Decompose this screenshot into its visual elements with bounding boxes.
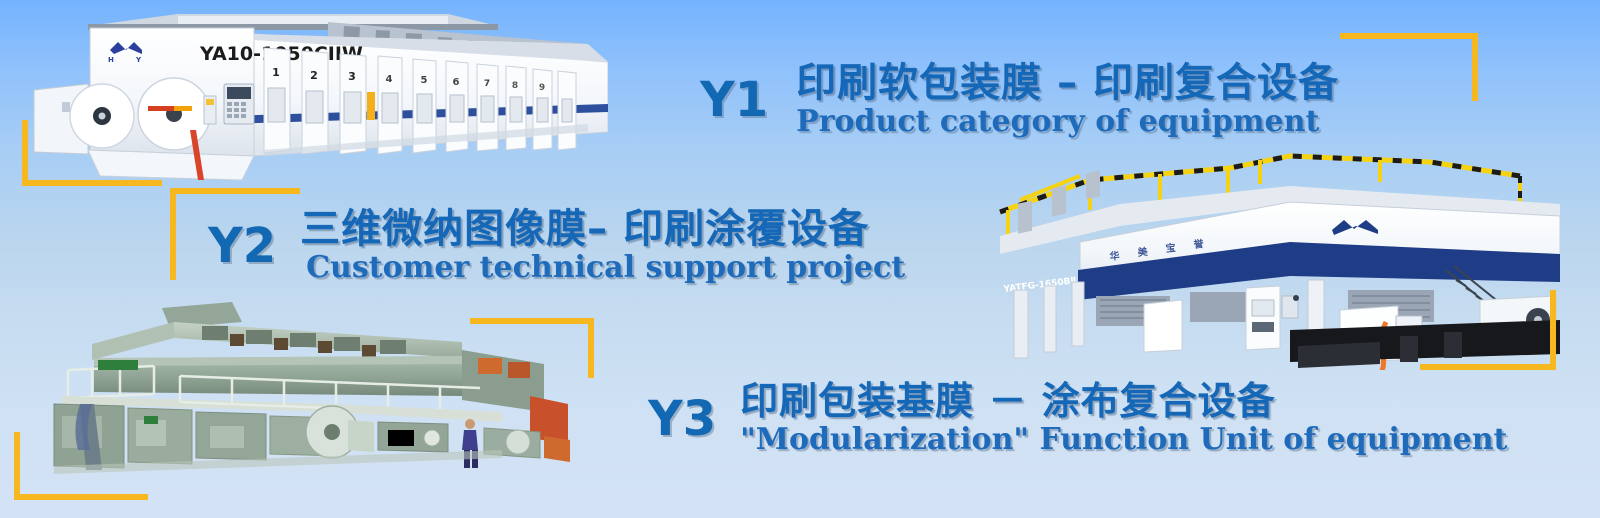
svg-text:8: 8 <box>512 81 518 91</box>
section-block-y3: Y3 印刷包装基膜 － 涂布复合设备 "Modularization" Func… <box>648 382 1507 455</box>
machine2-model-label: YATFG-1650BⅡ <box>1002 276 1077 295</box>
bracket-y1-left-vertical <box>22 120 28 186</box>
svg-text:2: 2 <box>310 69 318 82</box>
machine-photo-rotogravure-printing-press: H Y YA10-1050CIIW 1 <box>28 4 608 184</box>
section-block-y1: Y1 印刷软包装膜 – 印刷复合设备 Product category of e… <box>700 62 1339 138</box>
bracket-y2-right-vertical <box>1550 290 1556 370</box>
bracket-y1-top-horizontal <box>1340 33 1478 39</box>
section-title-en-y3: "Modularization" Function Unit of equipm… <box>740 424 1507 456</box>
svg-text:9: 9 <box>539 83 545 93</box>
svg-text:5: 5 <box>421 75 428 86</box>
svg-text:3: 3 <box>348 70 356 83</box>
svg-text:7: 7 <box>484 79 490 89</box>
machine-photo-base-film-coating-line <box>32 300 572 480</box>
section-title-en-y1: Product category of equipment <box>796 106 1339 138</box>
bracket-y2-top-horizontal <box>170 188 300 194</box>
svg-text:宝: 宝 <box>1165 241 1176 255</box>
section-code-y3: Y3 <box>648 391 716 447</box>
section-title-cn-y1: 印刷软包装膜 – 印刷复合设备 <box>796 62 1339 104</box>
section-code-y1: Y1 <box>700 72 768 128</box>
section-titles-y3: 印刷包装基膜 － 涂布复合设备 "Modularization" Functio… <box>740 382 1507 455</box>
bracket-y1-right-vertical <box>1472 33 1478 101</box>
bracket-y2-left-vertical <box>170 188 176 280</box>
svg-text:华: 华 <box>1109 249 1120 263</box>
svg-text:H: H <box>108 56 114 64</box>
product-category-banner: H Y YA10-1050CIIW 1 <box>0 0 1600 518</box>
svg-text:6: 6 <box>453 77 460 88</box>
section-title-cn-y2: 三维微纳图像膜– 印刷涂覆设备 <box>300 208 905 250</box>
section-code-y2: Y2 <box>208 218 276 274</box>
bracket-y3-top-horizontal <box>470 318 594 324</box>
bracket-y3-left-vertical <box>14 432 20 500</box>
bracket-y1-bottom-horizontal <box>22 180 162 186</box>
svg-text:Y: Y <box>135 56 142 64</box>
section-block-y2: Y2 三维微纳图像膜– 印刷涂覆设备 Customer technical su… <box>208 208 905 284</box>
section-titles-y2: 三维微纳图像膜– 印刷涂覆设备 Customer technical suppo… <box>300 208 905 284</box>
bracket-y3-right-vertical <box>588 318 594 378</box>
bracket-y2-bottom-horizontal <box>1420 364 1556 370</box>
bracket-y3-bottom-horizontal <box>14 494 148 500</box>
svg-text:4: 4 <box>386 74 393 85</box>
section-title-en-y2: Customer technical support project <box>300 252 905 284</box>
svg-text:1: 1 <box>272 66 280 79</box>
section-titles-y1: 印刷软包装膜 – 印刷复合设备 Product category of equi… <box>796 62 1339 138</box>
section-title-cn-y3: 印刷包装基膜 － 涂布复合设备 <box>740 382 1507 422</box>
machine-photo-coating-laminating-machine: 华 美 宝 誉 YATFG-1650BⅡ <box>960 150 1560 370</box>
